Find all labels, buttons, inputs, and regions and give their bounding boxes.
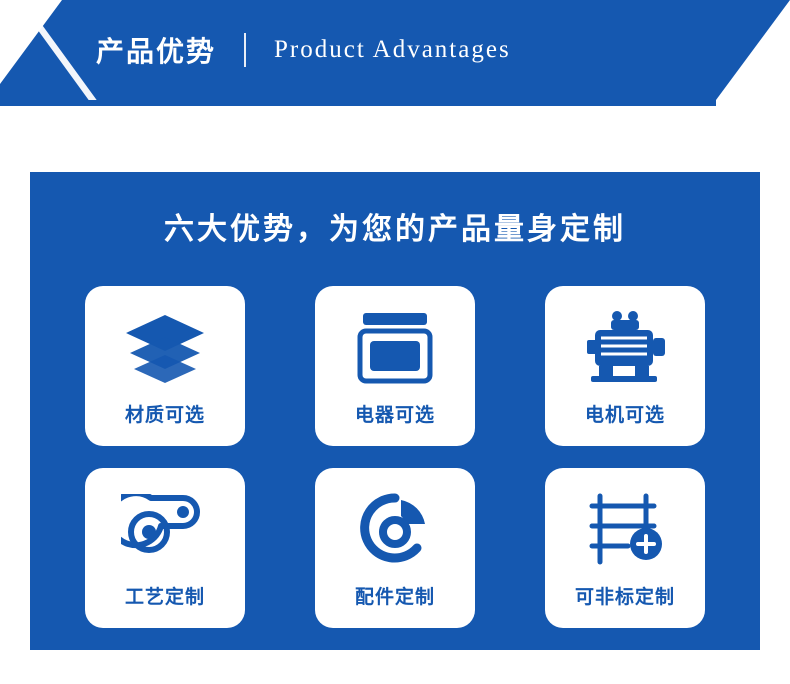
banner-title-divider: [244, 33, 246, 67]
advantage-card-process[interactable]: 工艺定制: [85, 468, 245, 628]
layers-icon: [119, 308, 211, 386]
banner-underline: [0, 100, 790, 106]
motor-icon: [579, 308, 671, 386]
advantage-card-label: 电器可选: [355, 400, 435, 427]
banner-title-english: Product Advantages: [274, 36, 511, 64]
advantage-card-label: 电机可选: [585, 400, 665, 427]
banner-title-group: 产品优势 Product Advantages: [96, 0, 511, 100]
banner-underline-cut: [716, 100, 790, 106]
pulley-belt-icon: [119, 490, 211, 568]
control-box-icon: [349, 308, 441, 386]
panel-heading: 六大优势，为您的产品量身定制: [30, 172, 760, 248]
advantage-card-material[interactable]: 材质可选: [85, 286, 245, 446]
advantage-card-motor[interactable]: 电机可选: [545, 286, 705, 446]
advantages-panel: 六大优势，为您的产品量身定制 材质可选: [30, 172, 760, 650]
advantage-card-electrical[interactable]: 电器可选: [315, 286, 475, 446]
ladder-plus-icon: [579, 490, 671, 568]
advantage-card-label: 材质可选: [125, 400, 205, 427]
banner-title-chinese: 产品优势: [96, 30, 216, 70]
advantage-card-nonstandard[interactable]: 可非标定制: [545, 468, 705, 628]
advantage-card-label: 可非标定制: [575, 582, 675, 609]
gear-parts-icon: [349, 490, 441, 568]
advantages-grid: 材质可选 电器可选: [85, 286, 705, 628]
page-header-banner: 产品优势 Product Advantages: [0, 0, 790, 110]
advantage-card-accessories[interactable]: 配件定制: [315, 468, 475, 628]
advantage-card-label: 工艺定制: [125, 582, 205, 609]
advantage-card-label: 配件定制: [355, 582, 435, 609]
